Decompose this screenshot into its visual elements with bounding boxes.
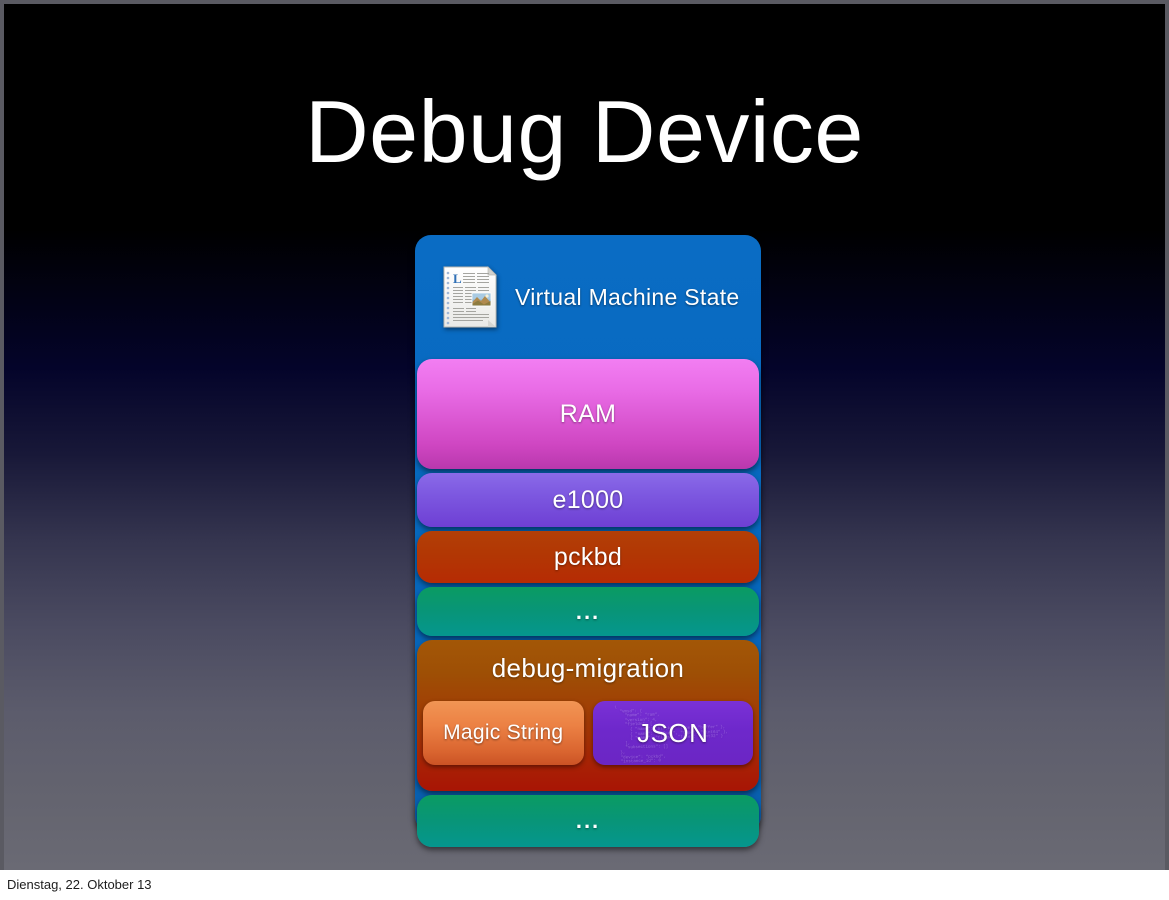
- json-box[interactable]: { "vmsd": { "name": "ram", "version": 4,…: [593, 701, 754, 765]
- device-label: ...: [576, 599, 600, 625]
- device-row-ellipsis[interactable]: ...: [417, 587, 759, 636]
- footer-bar: Dienstag, 22. Oktober 13: [0, 870, 1169, 900]
- vm-state-label: Virtual Machine State: [515, 284, 740, 311]
- device-label: e1000: [552, 486, 623, 515]
- debug-migration-title: debug-migration: [417, 654, 759, 683]
- device-row-ram[interactable]: RAM: [417, 359, 759, 469]
- device-row-pckbd[interactable]: pckbd: [417, 531, 759, 583]
- magic-string-box[interactable]: Magic String: [423, 701, 584, 765]
- debug-migration-children: Magic String { "vmsd": { "name": "ram", …: [423, 701, 753, 765]
- device-stack: RAM e1000 pckbd ... debug-migration Magi…: [417, 359, 759, 851]
- slide-canvas: Debug Device: [4, 4, 1165, 870]
- json-label: JSON: [637, 718, 708, 749]
- footer-date: Dienstag, 22. Oktober 13: [7, 877, 152, 892]
- slide-frame: Debug Device: [0, 0, 1169, 870]
- debug-migration-group[interactable]: debug-migration Magic String { "vmsd": {…: [417, 640, 759, 791]
- device-row-ellipsis-trailing[interactable]: ...: [417, 795, 759, 847]
- device-label: RAM: [560, 400, 616, 429]
- magic-string-label: Magic String: [443, 721, 563, 745]
- vm-state-header: L: [415, 235, 761, 359]
- device-row-e1000[interactable]: e1000: [417, 473, 759, 527]
- virtual-machine-state-container[interactable]: L: [415, 235, 761, 832]
- device-label: ...: [576, 808, 600, 834]
- document-article-icon: L: [443, 266, 497, 328]
- device-label: pckbd: [554, 543, 622, 572]
- svg-text:L: L: [453, 271, 462, 286]
- page-title: Debug Device: [4, 88, 1165, 176]
